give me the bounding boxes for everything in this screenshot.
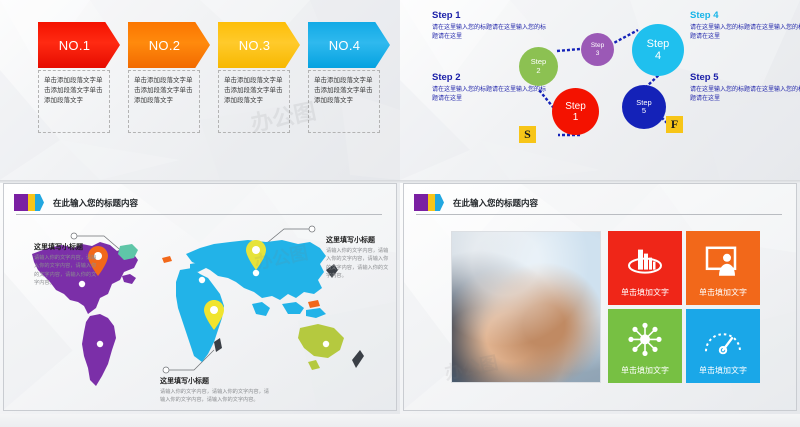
step-body-5: 请在这里输入您的标题请在这里输入您的标题请在这里 — [690, 85, 800, 103]
header-bar-purple — [414, 194, 428, 211]
step-text-4: Step 4 请在这里输入您的标题请在这里输入您的标题请在这里 — [690, 10, 800, 41]
tile-label-2: 单击填加文字 — [699, 287, 747, 298]
step-circle-3-word: Step — [591, 42, 604, 49]
step-body-1: 请在这里输入您的标题请在这里输入您的标题请在这里 — [432, 23, 550, 41]
slide-bottom-edge — [400, 414, 800, 427]
chevron-shape-1[interactable]: NO.1 — [38, 22, 120, 68]
tile-gauge[interactable]: 单击填加文字 — [686, 309, 760, 383]
step-circle-4-num: 4 — [655, 50, 661, 62]
map-callout-left-heading: 这里填写小标题 — [34, 242, 98, 252]
presenter-board-icon — [705, 246, 741, 283]
tile-label-4: 单击填加文字 — [699, 365, 747, 376]
chevron-item[interactable]: NO.2 单击添加段落文字单击添加段落文字单击添加段落文字 — [128, 22, 210, 133]
map-region-iceland — [162, 256, 172, 263]
slide-thumbnail-chevrons[interactable]: NO.1 单击添加段落文字单击添加段落文字单击添加段落文字 NO.2 单击添加段… — [0, 0, 400, 180]
step-body-2: 请在这里输入您的标题请在这里输入您的标题请在这里 — [432, 85, 550, 103]
handshake-photo — [451, 231, 601, 383]
header-divider — [416, 214, 782, 215]
map-region-oceania — [298, 324, 344, 370]
header-bar-yellow — [428, 194, 435, 211]
chevron-item[interactable]: NO.3 单击添加段落文字单击添加段落文字单击添加段落文字 — [218, 22, 300, 133]
header-divider — [16, 214, 382, 215]
finish-badge[interactable]: F — [666, 116, 683, 133]
start-badge[interactable]: S — [519, 126, 536, 143]
chevron-row: NO.1 单击添加段落文字单击添加段落文字单击添加段落文字 NO.2 单击添加段… — [38, 22, 398, 133]
chevron-label-2: NO.2 — [149, 38, 181, 53]
step-circle-3-num: 3 — [596, 50, 600, 57]
slide-thumbnail-tiles[interactable]: 在此输入您的标题内容 单击填加文字 — [400, 180, 800, 427]
chevron-item[interactable]: NO.1 单击添加段落文字单击添加段落文字单击添加段落文字 — [38, 22, 120, 133]
section-header: 在此输入您的标题内容 — [14, 194, 138, 211]
step-circle-1-num: 1 — [573, 112, 579, 123]
network-hub-icon — [627, 321, 663, 362]
header-bar-cyan-arrow-icon — [435, 194, 444, 211]
slide-frame: 在此输入您的标题内容 — [3, 183, 397, 411]
step-text-5: Step 5 请在这里输入您的标题请在这里输入您的标题请在这里 — [690, 72, 800, 103]
map-callout-right-heading: 这里填写小标题 — [326, 235, 392, 245]
tile-building-chart[interactable]: 单击填加文字 — [608, 231, 682, 305]
map-callout-left: 这里填写小标题 请输入你的文字内容，请输入你的文字内容，请输入你的文字内容，请输… — [34, 242, 98, 287]
chevron-body-4: 单击添加段落文字单击添加段落文字单击添加段落文字 — [308, 70, 380, 133]
tile-grid: 单击填加文字 单击填加文字 — [608, 231, 760, 383]
step-circle-4[interactable]: Step 4 — [632, 24, 684, 76]
slide-preview-grid: NO.1 单击添加段落文字单击添加段落文字单击添加段落文字 NO.2 单击添加段… — [0, 0, 800, 427]
tile-label-1: 单击填加文字 — [621, 287, 669, 298]
chevron-body-2: 单击添加段落文字单击添加段落文字单击添加段落文字 — [128, 70, 200, 133]
slide-frame: 在此输入您的标题内容 单击填加文字 — [403, 183, 797, 411]
tile-label-3: 单击填加文字 — [621, 365, 669, 376]
header-bar-cyan-arrow-icon — [35, 194, 44, 211]
map-callout-right-body: 请输入你的文字内容，请输入你的文字内容，请输入你的文字内容，请输入你的文字内容。 — [326, 247, 392, 280]
map-callout-left-body: 请输入你的文字内容，请输入你的文字内容，请输入你的文字内容，请输入你的文字内容。 — [34, 254, 98, 287]
building-chart-icon — [626, 245, 664, 284]
step-body-4: 请在这里输入您的标题请在这里输入您的标题请在这里 — [690, 23, 800, 41]
chevron-body-3: 单击添加段落文字单击添加段落文字单击添加段落文字 — [218, 70, 290, 133]
step-heading-1: Step 1 — [432, 10, 550, 21]
chevron-label-1: NO.1 — [59, 38, 91, 53]
chevron-shape-3[interactable]: NO.3 — [218, 22, 300, 68]
step-circle-1[interactable]: Step 1 — [552, 88, 599, 135]
gauge-icon — [703, 326, 743, 359]
step-circle-2[interactable]: Step 2 — [519, 47, 558, 86]
map-callout-bottom: 这里填写小标题 请输入你的文字内容，请输入你的文字内容，请输入你的文字内容，请输… — [160, 376, 272, 405]
chevron-label-4: NO.4 — [329, 38, 361, 53]
header-bar-purple — [14, 194, 28, 211]
map-callout-bottom-heading: 这里填写小标题 — [160, 376, 272, 386]
step-heading-4: Step 4 — [690, 10, 800, 21]
header-title: 在此输入您的标题内容 — [53, 197, 138, 209]
step-circle-5[interactable]: Step 5 — [622, 85, 666, 129]
step-heading-5: Step 5 — [690, 72, 800, 83]
map-region-philippines — [308, 300, 320, 308]
chevron-shape-4[interactable]: NO.4 — [308, 22, 390, 68]
step-circle-1-word: Step — [565, 101, 586, 112]
step-circle-3[interactable]: Step 3 — [581, 33, 614, 66]
map-callout-right: 这里填写小标题 请输入你的文字内容，请输入你的文字内容，请输入你的文字内容，请输… — [326, 235, 392, 280]
tile-presenter-board[interactable]: 单击填加文字 — [686, 231, 760, 305]
slide-bottom-edge — [0, 414, 400, 427]
chevron-item[interactable]: NO.4 单击添加段落文字单击添加段落文字单击添加段落文字 — [308, 22, 390, 133]
section-header: 在此输入您的标题内容 — [414, 194, 538, 211]
map-callout-bottom-body: 请输入你的文字内容，请输入你的文字内容，请输入你的文字内容，请输入你的文字内容。 — [160, 388, 272, 405]
header-title: 在此输入您的标题内容 — [453, 197, 538, 209]
step-circle-2-num: 2 — [536, 67, 540, 75]
tile-network-hub[interactable]: 单击填加文字 — [608, 309, 682, 383]
step-diagram: Step 1 请在这里输入您的标题请在这里输入您的标题请在这里 Step 2 请… — [400, 0, 800, 180]
chevron-label-3: NO.3 — [239, 38, 271, 53]
slide-thumbnail-world-map[interactable]: 在此输入您的标题内容 — [0, 180, 400, 427]
world-map: 这里填写小标题 请输入你的文字内容，请输入你的文字内容，请输入你的文字内容，请输… — [4, 218, 400, 408]
step-text-1: Step 1 请在这里输入您的标题请在这里输入您的标题请在这里 — [432, 10, 550, 41]
header-bar-yellow — [28, 194, 35, 211]
chevron-body-1: 单击添加段落文字单击添加段落文字单击添加段落文字 — [38, 70, 110, 133]
chevron-shape-2[interactable]: NO.2 — [128, 22, 210, 68]
step-circle-4-word: Step — [647, 38, 670, 50]
slide-thumbnail-steps[interactable]: Step 1 请在这里输入您的标题请在这里输入您的标题请在这里 Step 2 请… — [400, 0, 800, 180]
step-circle-5-num: 5 — [642, 107, 646, 115]
